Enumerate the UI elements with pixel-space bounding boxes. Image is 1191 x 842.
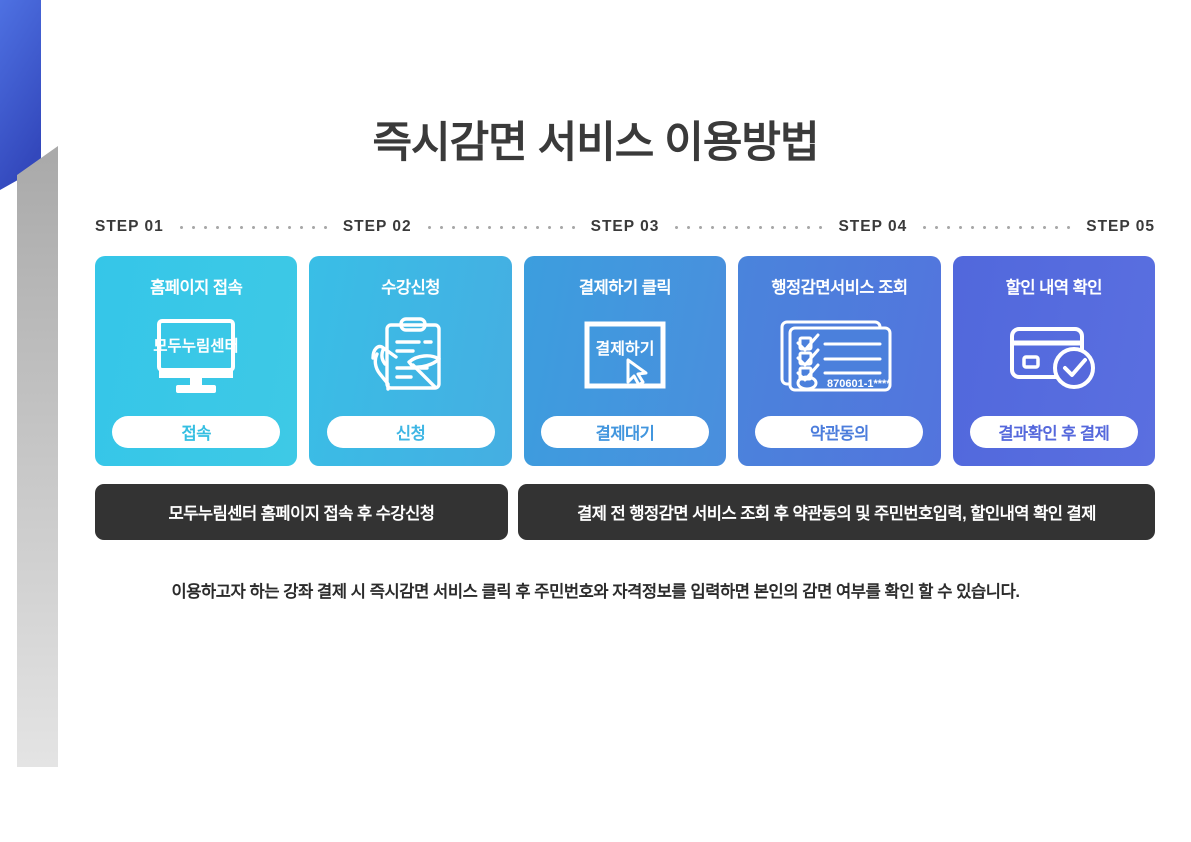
summary-bar-right-text: 결제 전 행정감면 서비스 조회 후 약관동의 및 주민번호입력, 할인내역 확… [577, 500, 1096, 524]
step-card-1-icon-area: 모두누림센터 [95, 298, 297, 416]
step-connector-1 [174, 226, 333, 229]
step-card-3-pill[interactable]: 결제대기 [541, 416, 709, 448]
step-card-3-title: 결제하기 클릭 [579, 274, 671, 298]
step-card-5-pill[interactable]: 결과확인 후 결제 [970, 416, 1138, 448]
step-label-5: STEP 05 [1086, 218, 1155, 236]
footnote-text: 이용하고자 하는 강좌 결제 시 즉시감면 서비스 클릭 후 주민번호와 자격정… [0, 578, 1191, 602]
monitor-screen-label: 모두누림센터 [153, 336, 239, 355]
step-card-2-pill-label: 신청 [396, 420, 425, 444]
step-card-4-pill[interactable]: 약관동의 [755, 416, 923, 448]
click-button-cursor-icon: 결제하기 [573, 320, 677, 394]
step-card-row: 홈페이지 접속 모두누림센터 접속 수강신청 [95, 256, 1155, 466]
monitor-icon: 모두누림센터 [142, 318, 250, 396]
step-indicator-strip: STEP 01 STEP 02 STEP 03 STEP 04 STEP 05 [95, 214, 1155, 240]
step-card-5[interactable]: 할인 내역 확인 결과확인 후 결제 [953, 256, 1155, 466]
step-connector-3 [669, 226, 828, 229]
payment-button-label: 결제하기 [596, 340, 655, 358]
summary-bar-right: 결제 전 행정감면 서비스 조회 후 약관동의 및 주민번호입력, 할인내역 확… [518, 484, 1155, 540]
credit-card-check-icon [1002, 321, 1106, 393]
step-card-2-icon-area [309, 298, 511, 416]
step-label-1: STEP 01 [95, 218, 164, 236]
summary-bar-left-text: 모두누림센터 홈페이지 접속 후 수강신청 [169, 500, 435, 524]
hand-writing-clipboard-icon [361, 316, 461, 398]
step-card-1-title: 홈페이지 접속 [150, 274, 242, 298]
step-connector-4 [917, 226, 1076, 229]
step-card-4-title: 행정감면서비스 조회 [771, 274, 907, 298]
summary-bar-row: 모두누림센터 홈페이지 접속 후 수강신청 결제 전 행정감면 서비스 조회 후… [95, 484, 1155, 540]
step-label-2: STEP 02 [343, 218, 412, 236]
step-connector-2 [422, 226, 581, 229]
resident-number-text: 870601-1**** [827, 378, 891, 390]
page-title: 즉시감면 서비스 이용방법 [0, 108, 1191, 170]
step-card-5-icon-area [953, 298, 1155, 416]
step-card-5-title: 할인 내역 확인 [1006, 274, 1102, 298]
step-card-4[interactable]: 행정감면서비스 조회 8 [738, 256, 940, 466]
cursor-arrow-icon [628, 360, 646, 385]
step-card-3[interactable]: 결제하기 클릭 결제하기 결제대기 [524, 256, 726, 466]
step-card-3-icon-area: 결제하기 [524, 298, 726, 416]
step-card-4-icon-area: 870601-1**** [738, 298, 940, 416]
step-card-2[interactable]: 수강신청 [309, 256, 511, 466]
step-label-4: STEP 04 [838, 218, 907, 236]
step-card-5-pill-label: 결과확인 후 결제 [998, 420, 1109, 444]
step-card-2-title: 수강신청 [381, 274, 440, 298]
gray-strip-shape [17, 146, 58, 767]
step-card-1-pill[interactable]: 접속 [112, 416, 280, 448]
checklist-documents-icon: 870601-1**** [777, 317, 901, 397]
summary-bar-left: 모두누림센터 홈페이지 접속 후 수강신청 [95, 484, 508, 540]
step-card-1-pill-label: 접속 [182, 420, 211, 444]
step-label-3: STEP 03 [591, 218, 660, 236]
step-card-3-pill-label: 결제대기 [596, 420, 655, 444]
step-card-1[interactable]: 홈페이지 접속 모두누림센터 접속 [95, 256, 297, 466]
step-card-2-pill[interactable]: 신청 [327, 416, 495, 448]
step-card-4-pill-label: 약관동의 [810, 420, 869, 444]
